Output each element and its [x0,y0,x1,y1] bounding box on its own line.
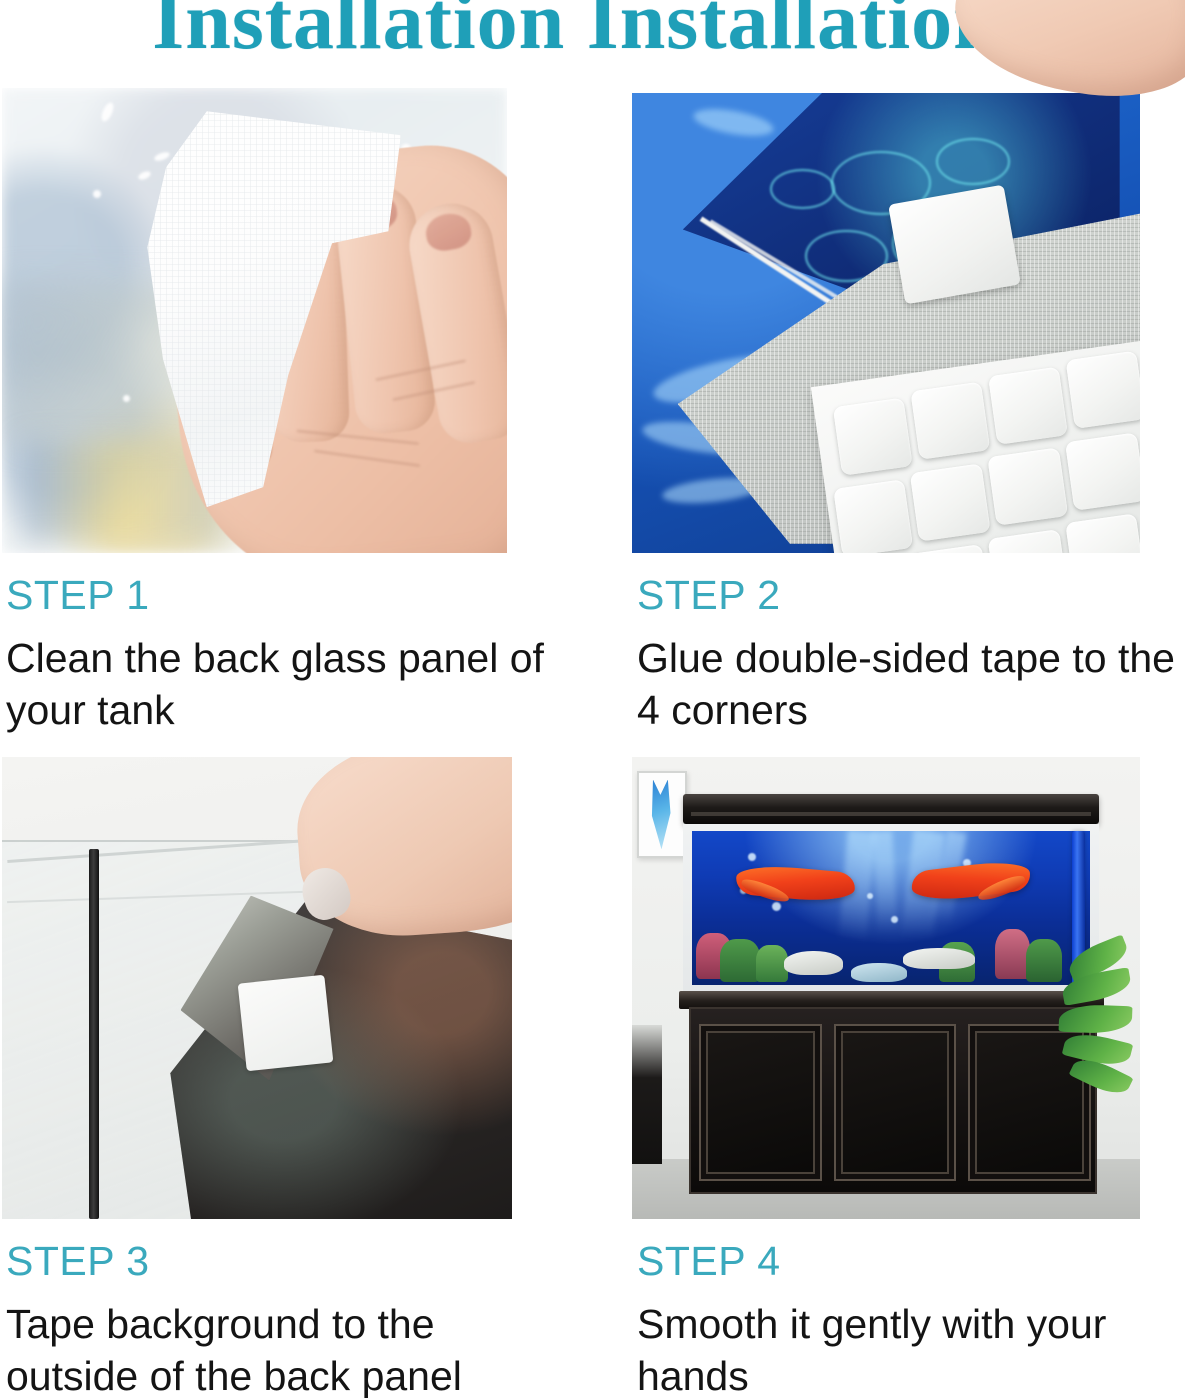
adhesive-pad [1065,513,1140,553]
step-1-photo [2,88,507,553]
step-2-description: Glue double-sided tape to the 4 corners [637,632,1177,737]
white-rock [784,951,844,976]
fish-fin [976,873,1028,904]
cabinet-door[interactable] [834,1024,957,1182]
adhesive-pad [1065,351,1140,429]
installation-instructions-page: Installation Installations [0,0,1185,1398]
house-plant [1059,942,1140,1099]
aquatic-plant [1026,939,1062,982]
aquatic-plant [720,939,760,982]
wall-picture-artwork [648,780,675,850]
adhesive-pad [833,479,913,553]
adhesive-pad [1065,432,1140,510]
skin-crease [314,450,421,467]
adhesive-square [237,974,332,1070]
poster-pattern [770,169,835,209]
step-3-label: STEP 3 [6,1238,150,1285]
aquarium [683,794,1100,1191]
coral [995,929,1031,978]
hood-detail-line [691,812,1091,816]
step-3-description: Tape background to the outside of the ba… [6,1298,546,1398]
bubble [867,893,873,899]
adhesive-square-being-applied [888,185,1021,305]
step-4-label: STEP 4 [637,1238,781,1285]
step-3-photo [2,757,512,1219]
aquatic-plant [756,945,788,982]
tank-corner-trim [89,849,99,1219]
plant-leaf [1058,1003,1131,1034]
poster-pattern [936,138,1010,185]
bubble [891,916,898,923]
step-2-label: STEP 2 [637,572,781,619]
cabinet-door[interactable] [699,1024,822,1182]
orange-arowana-fish [735,863,857,904]
gravel [851,963,907,981]
adhesive-pad [910,544,990,553]
adhesive-pad [988,447,1068,525]
step-1-description: Clean the back glass panel of your tank [6,632,546,737]
fingernail [423,210,474,253]
adhesive-pad [988,366,1068,444]
adhesive-pad [833,397,913,475]
bubble [772,902,781,911]
side-furniture [632,1025,662,1164]
fish-fin [739,877,791,906]
adhesive-pad [910,382,990,460]
aquarium-cabinet-stand [689,1007,1097,1194]
step-4-description: Smooth it gently with your hands [637,1298,1177,1398]
step-2-photo [632,93,1140,553]
aquarium-water-with-background-poster [692,831,1090,984]
adhesive-pad [910,463,990,541]
step-4-photo [632,757,1140,1219]
wall-picture-frame [637,771,687,858]
bubble [748,853,756,861]
white-rock [903,948,975,969]
step-1-label: STEP 1 [6,572,150,619]
adhesive-pad [988,529,1068,553]
aquarium-hood [683,794,1100,824]
